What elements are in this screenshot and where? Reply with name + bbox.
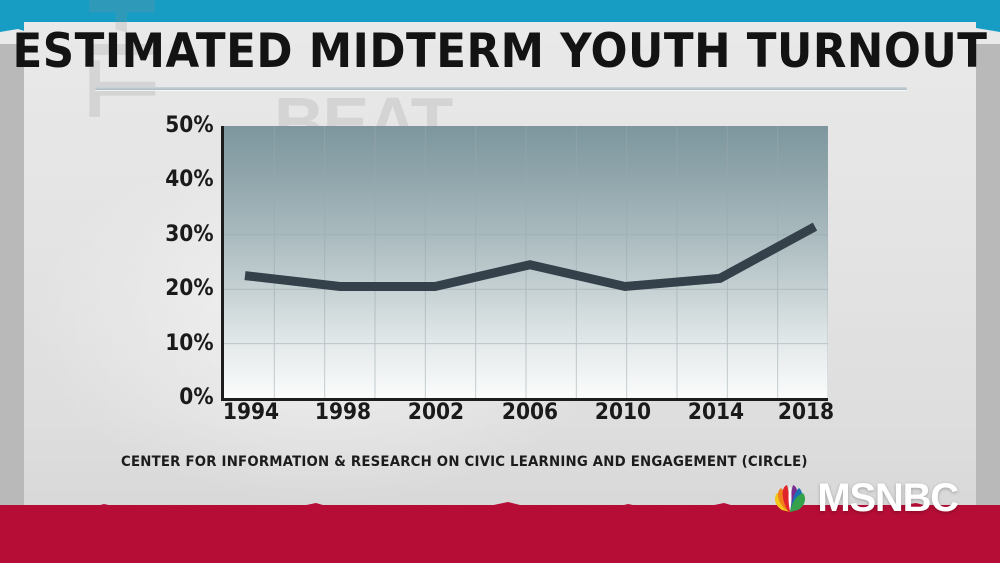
network-name: MSNBC bbox=[817, 478, 958, 518]
y-tick-label: 10% bbox=[154, 333, 213, 355]
x-tick-label: 1998 bbox=[307, 402, 378, 424]
x-tick-label: 2002 bbox=[400, 402, 471, 424]
y-tick-label: 40% bbox=[154, 169, 213, 191]
x-tick-label: 2014 bbox=[680, 402, 751, 424]
plot-svg bbox=[224, 126, 828, 398]
y-tick-label: 50% bbox=[154, 115, 213, 137]
nbc-peacock-icon bbox=[770, 481, 810, 515]
network-logo: MSNBC bbox=[770, 478, 958, 518]
x-tick-label: 2010 bbox=[587, 402, 658, 424]
broadcast-graphic: THE BEAT ESTIMATED MIDTERM YOUTH TURNOUT… bbox=[0, 0, 1000, 563]
data-series-line bbox=[245, 227, 815, 287]
plot-area bbox=[221, 126, 828, 401]
x-tick-label: 1994 bbox=[215, 402, 286, 424]
y-tick-label: 30% bbox=[154, 224, 213, 246]
x-tick-label: 2006 bbox=[494, 402, 565, 424]
y-tick-label: 20% bbox=[154, 278, 213, 300]
source-attribution: CENTER FOR INFORMATION & RESEARCH ON CIV… bbox=[121, 454, 808, 470]
x-axis-labels: 1994 1998 2002 2006 2010 2014 2018 bbox=[0, 402, 1000, 428]
y-axis-labels: 50% 40% 30% 20% 10% 0% bbox=[155, 112, 213, 412]
x-tick-label: 2018 bbox=[770, 402, 841, 424]
